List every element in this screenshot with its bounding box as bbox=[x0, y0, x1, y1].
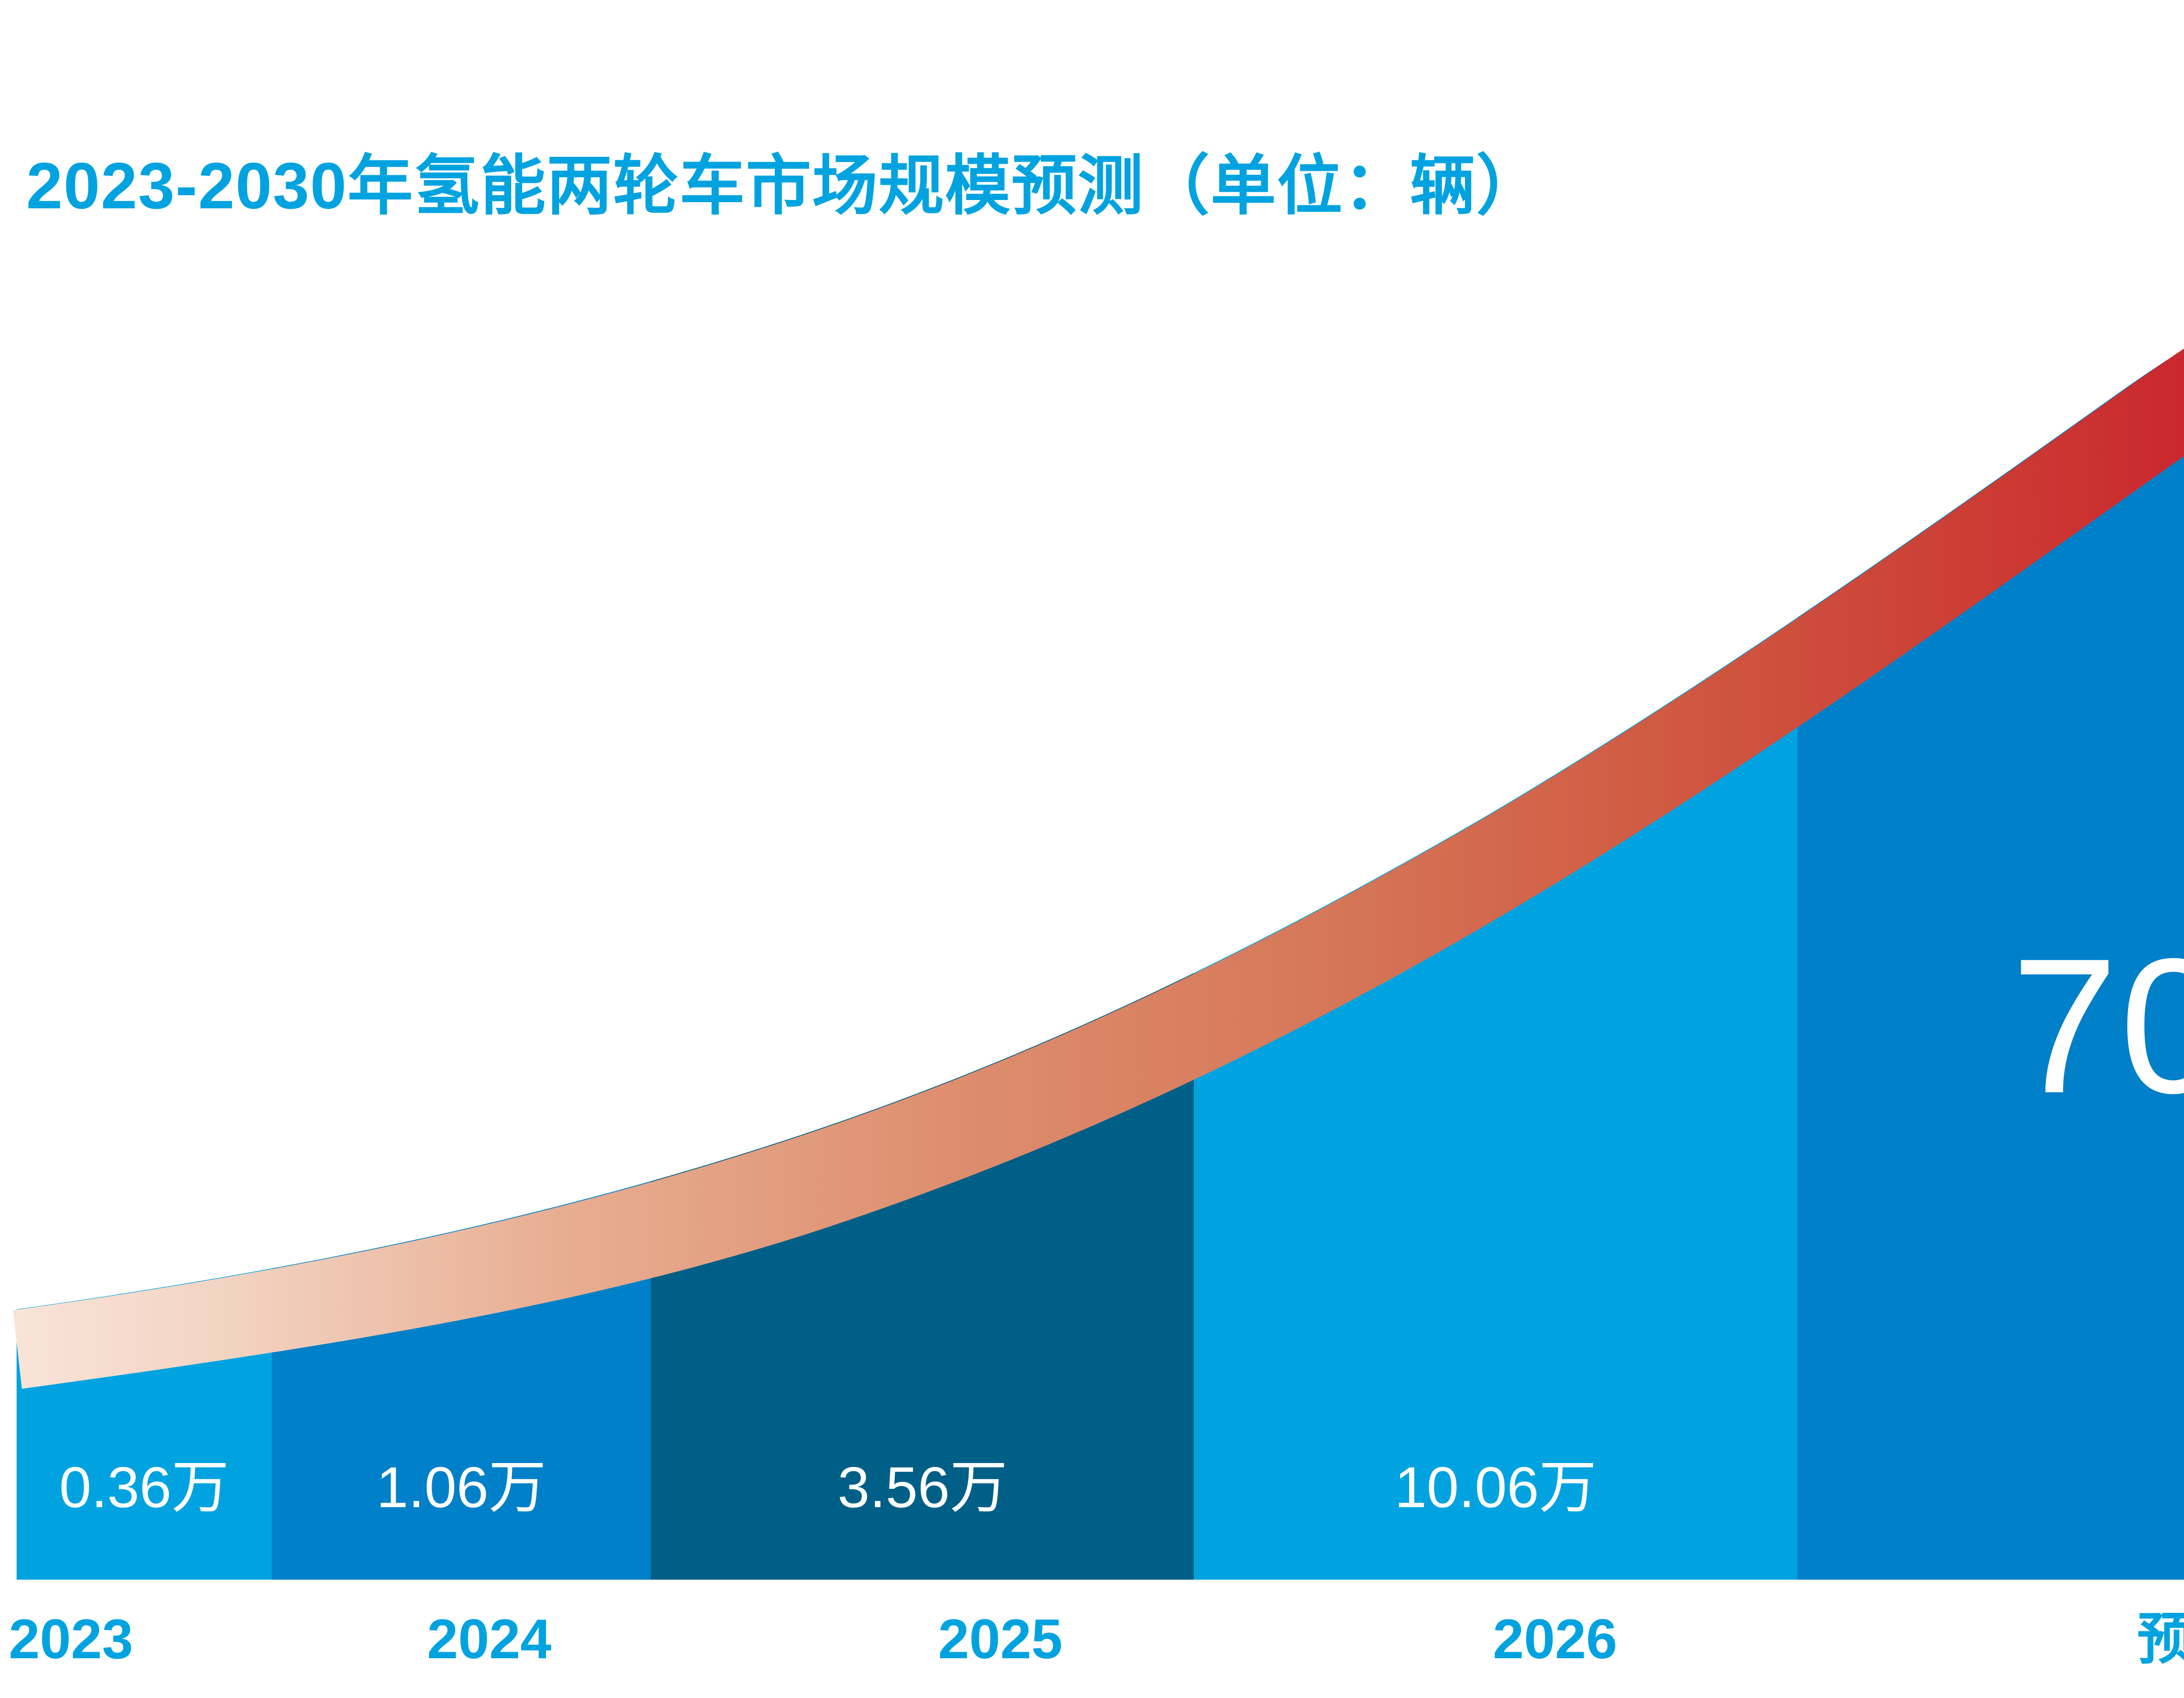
axis-label-2030-forecast: 预计2030年增长 bbox=[2137, 1612, 2184, 1667]
chart-graphics bbox=[0, 0, 2184, 1698]
bar-value-label-highlight: 70万 bbox=[2011, 930, 2184, 1122]
axis-label-2024: 2024 bbox=[427, 1612, 552, 1667]
axis-label-2023: 2023 bbox=[9, 1612, 133, 1667]
bar-value-label: 1.06万 bbox=[377, 1459, 546, 1516]
axis-label-2026: 2026 bbox=[1493, 1612, 1617, 1667]
bar-group bbox=[17, 131, 2184, 1580]
bar-value-label: 0.36万 bbox=[59, 1459, 229, 1516]
bar-2025 bbox=[651, 131, 1194, 1580]
bar-2030 bbox=[1797, 131, 2184, 1580]
bar-2024 bbox=[272, 131, 651, 1580]
axis-label-2025: 2025 bbox=[938, 1612, 1063, 1667]
chart-canvas: 2023-2030年氢能两轮车市场规模预测（单位：辆） bbox=[0, 0, 2184, 1698]
bar-value-label: 10.06万 bbox=[1395, 1459, 1597, 1516]
bar-value-label: 3.56万 bbox=[838, 1459, 1008, 1516]
